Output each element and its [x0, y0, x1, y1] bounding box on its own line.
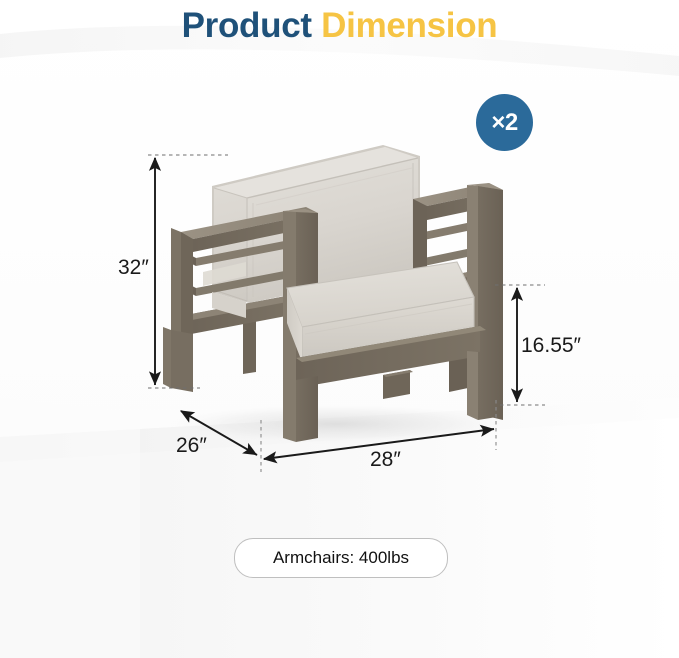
title-part-one: Product [182, 6, 312, 45]
page-title: Product Dimension [0, 6, 679, 46]
dimension-label-width: 28″ [370, 448, 401, 472]
title-part-two: Dimension [321, 6, 497, 45]
weight-capacity-badge: Armchairs: 400lbs [234, 538, 448, 578]
dimension-label-depth: 26″ [176, 434, 207, 458]
product-dimension-infographic: Product Dimension ×2 32″ 16.55″ 26″ 28″ … [0, 0, 679, 658]
dimension-label-seat-height: 16.55″ [521, 334, 581, 358]
quantity-badge: ×2 [476, 94, 533, 151]
dimension-label-height: 32″ [118, 256, 149, 280]
height-dimension-32 [148, 155, 228, 388]
